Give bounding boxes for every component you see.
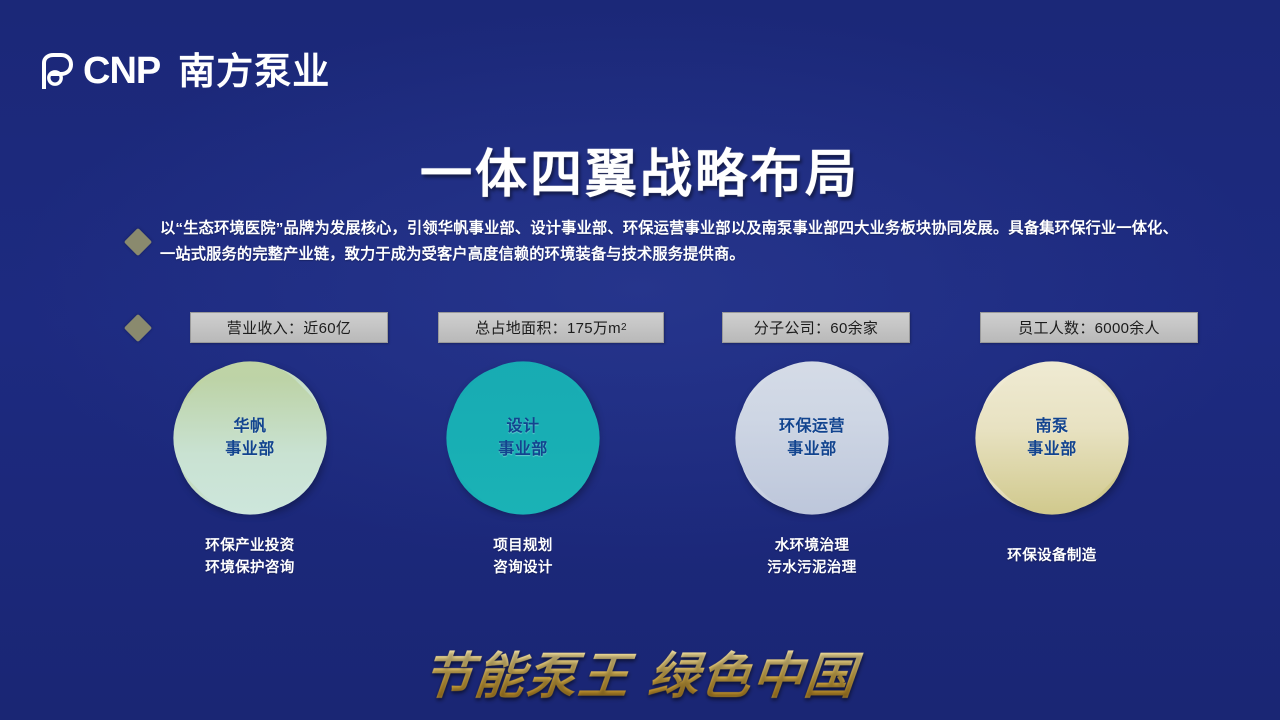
pillar-label-line1: 华帆 <box>225 415 275 438</box>
pillar-nanbeng[interactable]: 南泵 事业部 环保设备制造 <box>932 365 1172 567</box>
pillar-shape[interactable]: 环保运营 事业部 <box>739 365 885 511</box>
stat-label: 营业收入：近60亿 <box>227 317 351 338</box>
pillar-label: 设计 事业部 <box>498 415 548 461</box>
brand-logo: CNP 南方泵业 <box>40 48 330 94</box>
stat-box-revenue: 营业收入：近60亿 <box>190 312 388 343</box>
stats-block: 营业收入：近60亿 总占地面积：175万m2 分子公司：60余家 员工人数：60… <box>128 312 1178 343</box>
pillar-label: 南泵 事业部 <box>1027 415 1077 461</box>
stat-label: 员工人数：6000余人 <box>1018 317 1160 338</box>
pillar-label-line2: 事业部 <box>498 438 548 461</box>
pillar-shape[interactable]: 设计 事业部 <box>450 365 596 511</box>
pillar-shape[interactable]: 华帆 事业部 <box>177 365 323 511</box>
stat-label: 总占地面积：175万m <box>475 317 621 338</box>
pillar-label: 环保运营 事业部 <box>779 415 845 461</box>
bottom-slogan: 节能泵王绿色中国 <box>0 636 1280 708</box>
stat-box-area: 总占地面积：175万m2 <box>438 312 664 343</box>
pillar-label-line2: 事业部 <box>225 438 275 461</box>
pillar-label-line1: 南泵 <box>1027 415 1077 438</box>
pillar-label-line1: 设计 <box>498 415 548 438</box>
pillar-design[interactable]: 设计 事业部 项目规划 咨询设计 <box>403 365 643 579</box>
pillar-label-line2: 事业部 <box>1027 438 1077 461</box>
pillar-caption-line1: 环保设备制造 <box>932 545 1172 567</box>
stat-box-employees: 员工人数：6000余人 <box>980 312 1198 343</box>
brand-name-cn: 南方泵业 <box>178 53 330 90</box>
brand-abbr: CNP <box>83 53 160 89</box>
stat-box-subsidiaries: 分子公司：60余家 <box>722 312 910 343</box>
intro-block: 以“生态环境医院”品牌为发展核心，引领华帆事业部、设计事业部、环保运营事业部以及… <box>128 216 1178 268</box>
intro-text: 以“生态环境医院”品牌为发展核心，引领华帆事业部、设计事业部、环保运营事业部以及… <box>160 216 1178 268</box>
pillar-caption: 环保产业投资 环境保护咨询 <box>130 535 370 579</box>
page-title: 一体四翼战略布局 <box>0 132 1280 207</box>
pillar-caption-line1: 项目规划 <box>403 535 643 557</box>
pillar-huafan[interactable]: 华帆 事业部 环保产业投资 环境保护咨询 <box>130 365 370 579</box>
pillar-label-line2: 事业部 <box>779 438 845 461</box>
pillar-caption-line1: 环保产业投资 <box>130 535 370 557</box>
pillar-caption: 环保设备制造 <box>932 545 1172 567</box>
pillar-label: 华帆 事业部 <box>225 415 275 461</box>
cnp-logo-icon <box>40 53 74 89</box>
pillar-caption: 项目规划 咨询设计 <box>403 535 643 579</box>
pillar-caption-line1: 水环境治理 <box>692 535 932 557</box>
diamond-bullet-icon <box>124 313 152 341</box>
stat-superscript: 2 <box>621 322 627 333</box>
pillar-env-operation[interactable]: 环保运营 事业部 水环境治理 污水污泥治理 <box>692 365 932 579</box>
diamond-bullet-icon <box>124 228 152 256</box>
pillar-caption: 水环境治理 污水污泥治理 <box>692 535 932 579</box>
stat-label: 分子公司：60余家 <box>754 317 878 338</box>
pillar-caption-line2: 污水污泥治理 <box>692 557 932 579</box>
slide-background <box>0 0 1280 720</box>
pillar-caption-line2: 环境保护咨询 <box>130 557 370 579</box>
pillar-caption-line2: 咨询设计 <box>403 557 643 579</box>
pillars-row: 华帆 事业部 环保产业投资 环境保护咨询 设计 事业部 项目规划 咨询设计 环保… <box>0 365 1280 585</box>
slogan-part2: 绿色中国 <box>646 646 860 705</box>
pillar-shape[interactable]: 南泵 事业部 <box>979 365 1125 511</box>
pillar-label-line1: 环保运营 <box>779 415 845 438</box>
slogan-part1: 节能泵王 <box>420 646 634 705</box>
